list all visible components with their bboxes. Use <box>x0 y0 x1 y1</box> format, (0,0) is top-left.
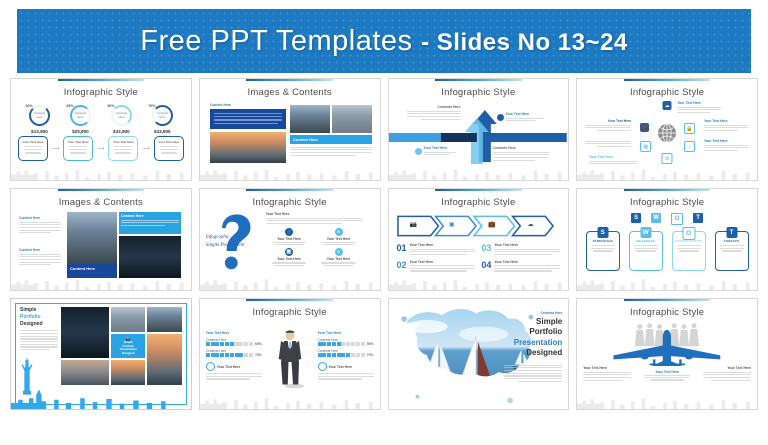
right-text-block: Contents Here <box>493 146 549 162</box>
banner-title: Free PPT Templates - Slides No 13~24 <box>140 25 627 58</box>
swot-letter-t: T <box>693 213 703 223</box>
process-box: Your Text Here <box>108 136 138 161</box>
donut-label: Contents Here <box>31 112 48 119</box>
step-item: 01 Your Text Here <box>397 243 476 257</box>
swot-badge: O <box>682 227 695 240</box>
label-center: Your Text Here <box>640 370 694 382</box>
slide-title: Infographic Style <box>200 307 380 318</box>
template-preview-page: Free PPT Templates - Slides No 13~24 Inf… <box>0 10 768 445</box>
process-box-heading: Your Text Here <box>21 140 45 144</box>
label-top: Your Text Here <box>677 101 721 115</box>
donut-percent: 70% <box>148 104 155 108</box>
heading-line-1: Simple <box>20 307 58 314</box>
photo-city-day <box>290 105 330 133</box>
download-icon: ↓ <box>684 141 695 152</box>
process-box: Your Text Here <box>18 136 48 161</box>
icon-node-bottom: ⚙ <box>662 153 673 164</box>
photo-airplane <box>147 307 181 332</box>
slide-grid: Infographic Style 60% Contents Here $13,… <box>8 78 760 410</box>
slide-thumbnail-24[interactable]: Infographic Style <box>576 298 758 410</box>
slide-title: Infographic Style <box>389 197 569 208</box>
skyline-decoration <box>577 394 757 409</box>
script-line-1: Infographic <box>206 234 245 242</box>
portfolio-caption-tile: 📷 Simple Portfolio Presentation Designed <box>111 334 145 359</box>
process-box: Your Text Here <box>154 136 184 161</box>
content-caption: Content Here <box>19 216 61 220</box>
slide-accent-bar <box>246 79 332 81</box>
slide-title: Infographic Style <box>11 87 191 98</box>
sailboat-layout: Contents Here Simple Portfolio Presentat… <box>389 299 569 410</box>
swot-letter-w: W <box>651 213 661 223</box>
lock-icon: 🔒 <box>684 123 695 134</box>
progress-bar <box>318 353 365 357</box>
text-label: Your Text Here <box>585 119 631 123</box>
swot-card: W WEAKNESS <box>629 231 663 271</box>
slide-title: Infographic Style <box>577 87 757 98</box>
icon-node-right-lower: ↓ <box>684 141 695 152</box>
progress-bar <box>206 342 253 346</box>
photo-skyline-dusk <box>111 360 145 385</box>
briefcase-icon: 💼 <box>488 221 495 228</box>
step-number: 01 <box>397 243 407 257</box>
swot-card: T THREATS <box>715 231 749 271</box>
block-heading: Your Text Here <box>318 331 374 335</box>
donut-ring: Contents Here <box>70 105 91 126</box>
user-icon: 👤 <box>285 228 293 236</box>
donut-item: 65% Contents Here $25,900 <box>67 105 93 134</box>
statue-of-liberty-icon <box>17 349 37 407</box>
steps-grid: 01 Your Text Here 03 Your Text Here 02 <box>397 243 561 273</box>
slide-thumbnail-13[interactable]: Infographic Style 60% Contents Here $13,… <box>10 78 192 181</box>
step-label: Your Text Here <box>410 243 476 247</box>
progress-bar <box>206 353 253 357</box>
left-text-2: Content Here <box>19 248 61 267</box>
images-layout: Content Here Content Here <box>210 103 370 165</box>
slide-title: Images & Contents <box>200 87 380 98</box>
arrow-icon: ⟶ <box>52 146 59 152</box>
sailboat-text: Contents Here Simple Portfolio Presentat… <box>504 311 562 383</box>
text-label: Your Text Here <box>506 112 544 116</box>
process-box-heading: Your Text Here <box>157 140 181 144</box>
step-label: Your Text Here <box>494 243 560 247</box>
eyebrow-label: Contents Here <box>504 311 562 315</box>
slide-accent-bar <box>624 299 710 301</box>
label-left-upper: Your Text Here <box>585 119 631 133</box>
skyline-decoration <box>11 275 191 290</box>
donut-label: Contents Here <box>72 112 89 119</box>
globe-icon <box>655 121 679 145</box>
cloud-icon: ☁ <box>663 101 672 110</box>
donut-label: Contents Here <box>113 112 130 119</box>
heading-line-3: Presentation <box>504 338 562 348</box>
label-right: Your Text Here <box>703 366 751 382</box>
donut-percent: 65% <box>66 104 73 108</box>
progress-bar <box>318 342 365 346</box>
skyline-decoration <box>200 165 380 180</box>
slide-thumbnail-18[interactable]: Infographic Style Infographic Simple Pow… <box>199 188 381 291</box>
slide-title: Infographic Style <box>389 87 569 98</box>
left-footer: Your Text Here <box>206 362 262 371</box>
heading-line-2: Portfolio <box>504 327 562 337</box>
content-caption: Content Here <box>210 103 231 107</box>
slide-title: Infographic Style <box>200 197 380 208</box>
swot-cards: S STRENGTHS W WEAKNESS O OPPORTUNITIES T… <box>581 231 753 271</box>
slide-title: Infographic Style <box>577 307 757 318</box>
text-label: Your Text Here <box>703 366 751 370</box>
photo-skyline <box>67 212 117 264</box>
chat-icon: ✉ <box>335 228 343 236</box>
left-text-1: Content Here <box>19 216 61 235</box>
skyline-decoration <box>389 165 569 180</box>
icon-node-top: ☁ <box>663 101 672 110</box>
heading-line-3: Designed <box>20 321 58 328</box>
text-label: Your Text Here <box>217 365 241 369</box>
briefcase-icon: 💼 <box>640 123 649 132</box>
slide-thumbnail-23[interactable]: Contents Here Simple Portfolio Presentat… <box>388 298 570 410</box>
airplane-layout <box>577 320 757 366</box>
donut-value: $43,900 <box>149 129 175 134</box>
content-caption: Content Here <box>290 135 372 144</box>
donut-value: $25,900 <box>67 129 93 134</box>
airplane-labels: Your Text Here Your Text Here Your Text … <box>583 366 751 394</box>
donut-label: Contents Here <box>154 112 171 119</box>
swot-badge: T <box>726 227 737 238</box>
skyline-decoration <box>577 165 757 180</box>
text-label: Your Text Here <box>329 365 353 369</box>
step-number: 03 <box>481 243 491 257</box>
photo-city-aerial <box>332 105 372 133</box>
label-right-upper: Your Text Here <box>704 119 748 133</box>
slide-thumbnail-20[interactable]: Infographic Style S W O T S STRENGTHS W … <box>576 188 758 291</box>
process-box-heading: Your Text Here <box>66 140 90 144</box>
photo-night-city <box>119 236 181 278</box>
swot-caption: THREATS <box>716 239 748 243</box>
donut-item: 60% Contents Here $13,900 <box>26 105 52 134</box>
right-footer: Your Text Here <box>318 362 374 371</box>
text-label: Your Text Here <box>266 237 313 241</box>
slide-thumbnail-21[interactable]: Simple Portfolio Designed 📷 <box>10 298 192 410</box>
slide-thumbnail-14[interactable]: Images & Contents Content Here Content H… <box>199 78 381 181</box>
swot-letter-o: O <box>671 213 683 225</box>
slide-thumbnail-15[interactable]: Infographic Style Contents Here Your T <box>388 78 570 181</box>
right-label-1: Your Text Here <box>497 112 544 123</box>
navy-text-block <box>210 109 286 129</box>
donut-value: $13,900 <box>26 129 52 134</box>
slide-title: Infographic Style <box>577 197 757 208</box>
donut-ring: Contents Here <box>152 105 173 126</box>
photo-bridge-sunset <box>147 334 181 385</box>
header-banner: Free PPT Templates - Slides No 13~24 <box>18 10 750 72</box>
icon-node-left: 💼 <box>640 123 649 132</box>
skyline-decoration <box>389 275 569 290</box>
slide-thumbnail-17[interactable]: Images & Contents Content Here Content H… <box>10 188 192 291</box>
block-heading: Contents Here <box>493 146 549 150</box>
bar-percent: 60% <box>255 342 262 346</box>
skyline-decoration <box>577 275 757 290</box>
text-label: Your Text Here <box>704 119 748 123</box>
swot-badge: W <box>640 227 651 238</box>
swot-caption: STRENGTHS <box>587 239 619 243</box>
slide-accent-bar <box>246 299 332 301</box>
monitor-icon: ▣ <box>449 221 455 228</box>
slide-thumbnail-22[interactable]: Infographic Style Your Text Here <box>199 298 381 410</box>
swot-badge: S <box>597 227 608 238</box>
step-label: Your Text Here <box>494 260 560 264</box>
slide-thumbnail-19[interactable]: Infographic Style 📷 ▣ 💼 ☁ 01 Your Text H… <box>388 188 570 291</box>
slide-accent-bar <box>58 189 144 191</box>
donut-ring: Contents Here <box>111 105 132 126</box>
step-number: 04 <box>481 260 491 274</box>
step-label: Your Text Here <box>410 260 476 264</box>
label-left: Your Text Here <box>583 366 631 382</box>
globe-layout: ☁ Your Text Here 💼 Your Text Here ▦ <box>583 101 751 167</box>
businessman-illustration <box>275 323 305 395</box>
donut-row: 60% Contents Here $13,900 65% Contents H… <box>19 105 183 134</box>
label-right-lower: Your Text Here <box>704 139 748 153</box>
photo-sunset-city <box>210 132 286 163</box>
swot-card: S STRENGTHS <box>586 231 620 271</box>
skyline-decoration <box>200 394 380 409</box>
icon-item: ✉ Your Text Here <box>315 228 362 245</box>
arrows-layout: Contents Here Your Text Here Your Text H… <box>389 100 569 168</box>
left-text-block: Contents Here <box>407 105 461 121</box>
heading-line-4: Designed <box>504 348 562 358</box>
block-heading: Content Here <box>121 214 179 218</box>
process-box-row: Your Text Here ⟶ Your Text Here ⟶ Your T… <box>16 136 186 161</box>
donut-item: 30% Contents Here $33,900 <box>108 105 134 134</box>
chart-icon: 📊 <box>285 248 293 256</box>
portfolio-layout: Simple Portfolio Designed 📷 <box>20 307 182 385</box>
blue-caption-block: Content Here <box>119 212 181 234</box>
chevron-row: 📷 ▣ 💼 ☁ <box>397 214 561 238</box>
swot-letter-row: S W O T <box>577 213 757 225</box>
arrow-icon: ⟶ <box>97 146 104 152</box>
text-label: Your Text Here <box>424 146 456 150</box>
text-label: Your Text Here <box>315 257 362 261</box>
bar-percent: 50% <box>367 342 374 346</box>
step-number: 02 <box>397 260 407 274</box>
bars-layout: Your Text Here Contents Here 60% Content… <box>200 321 380 397</box>
swot-card: O OPPORTUNITIES <box>672 231 706 271</box>
heading-line-2: Portfolio <box>20 314 58 321</box>
gear-icon: ⚙ <box>662 153 673 164</box>
chevron-graphics <box>397 214 561 238</box>
script-text: Infographic Simple PowerPoint <box>206 234 245 249</box>
slide-accent-bar <box>624 79 710 81</box>
slide-thumbnail-16[interactable]: Infographic Style ☁ Your Text Here <box>576 78 758 181</box>
swot-caption: WEAKNESS <box>630 239 662 243</box>
donut-item: 70% Contents Here $43,900 <box>149 105 175 134</box>
step-item: 04 Your Text Here <box>481 260 560 274</box>
photo-light-trails <box>61 307 109 358</box>
process-box-heading: Your Text Here <box>111 140 135 144</box>
block-heading: Your Text Here <box>206 331 262 335</box>
slide-title: Images & Contents <box>11 197 191 208</box>
banner-title-sub: - Slides No 13~24 <box>421 29 628 56</box>
slide-accent-bar <box>435 189 521 191</box>
text-label: Your Text Here <box>315 237 362 241</box>
heading-line-1: Simple <box>504 317 562 327</box>
question-layout: Infographic Simple PowerPoint Your Text … <box>200 208 380 274</box>
slide-accent-bar <box>58 79 144 81</box>
icon-item: 👤 Your Text Here <box>266 228 313 245</box>
tile-caption-4: Designed <box>120 352 137 356</box>
step-item: 03 Your Text Here <box>481 243 560 257</box>
right-content: Your Text Here 👤 Your Text Here ✉ Your T… <box>266 212 362 266</box>
right-stats: Your Text Here Contents Here 50% Content… <box>318 331 374 381</box>
step-item: 02 Your Text Here <box>397 260 476 274</box>
content-text-block <box>290 145 372 157</box>
camera-icon: 📷 <box>410 221 417 228</box>
text-label: Your Text Here <box>704 139 748 143</box>
banner-title-main: Free PPT Templates <box>140 25 412 57</box>
block-heading: Contents Here <box>407 105 461 109</box>
text-label: Your Text Here <box>583 366 631 370</box>
skyline-decoration <box>11 165 191 180</box>
left-label-2: Your Text Here <box>415 146 456 157</box>
donut-value: $33,900 <box>108 129 134 134</box>
script-line-2: Simple PowerPoint <box>206 242 245 250</box>
bar-percent: 70% <box>367 353 374 357</box>
label-left-lower <box>585 139 631 149</box>
icon-item: 📊 Your Text Here <box>266 248 313 265</box>
photo-mosaic: 📷 Simple Portfolio Presentation Designed <box>61 307 182 385</box>
cloud-icon: ☁ <box>528 221 534 228</box>
icon-node-right: 🔒 <box>684 123 695 134</box>
airplane-illustration <box>577 320 757 366</box>
icon-node-left-lower: ▦ <box>640 141 651 152</box>
donut-ring: Contents Here <box>29 105 50 126</box>
monitor-icon: ▦ <box>640 141 651 152</box>
content-caption: Content Here <box>19 248 61 252</box>
text-label: Your Text Here <box>640 370 694 374</box>
blue-skyline-decoration <box>11 389 191 409</box>
slide-accent-bar <box>624 189 710 191</box>
images-layout: Content Here Content Here Content Here C… <box>19 212 183 278</box>
left-stats: Your Text Here Contents Here 60% Content… <box>206 331 262 381</box>
donut-percent: 60% <box>25 104 32 108</box>
photo-waterfront <box>61 360 109 385</box>
slide-accent-bar <box>435 79 521 81</box>
donut-percent: 30% <box>107 104 114 108</box>
target-icon: ◎ <box>335 248 343 256</box>
text-label: Your Text Here <box>589 155 637 159</box>
bar-percent: 75% <box>255 353 262 357</box>
photo-harbor <box>111 307 145 332</box>
text-label: Your Text Here <box>266 257 313 261</box>
icon-item: ◎ Your Text Here <box>315 248 362 265</box>
arrow-icon: ⟶ <box>143 146 150 152</box>
skyline-decoration <box>200 275 380 290</box>
process-box: Your Text Here <box>63 136 93 161</box>
block-heading: Your Text Here <box>266 212 362 216</box>
slide-accent-bar <box>246 189 332 191</box>
swot-letter-s: S <box>631 213 641 223</box>
text-label: Your Text Here <box>677 101 721 105</box>
